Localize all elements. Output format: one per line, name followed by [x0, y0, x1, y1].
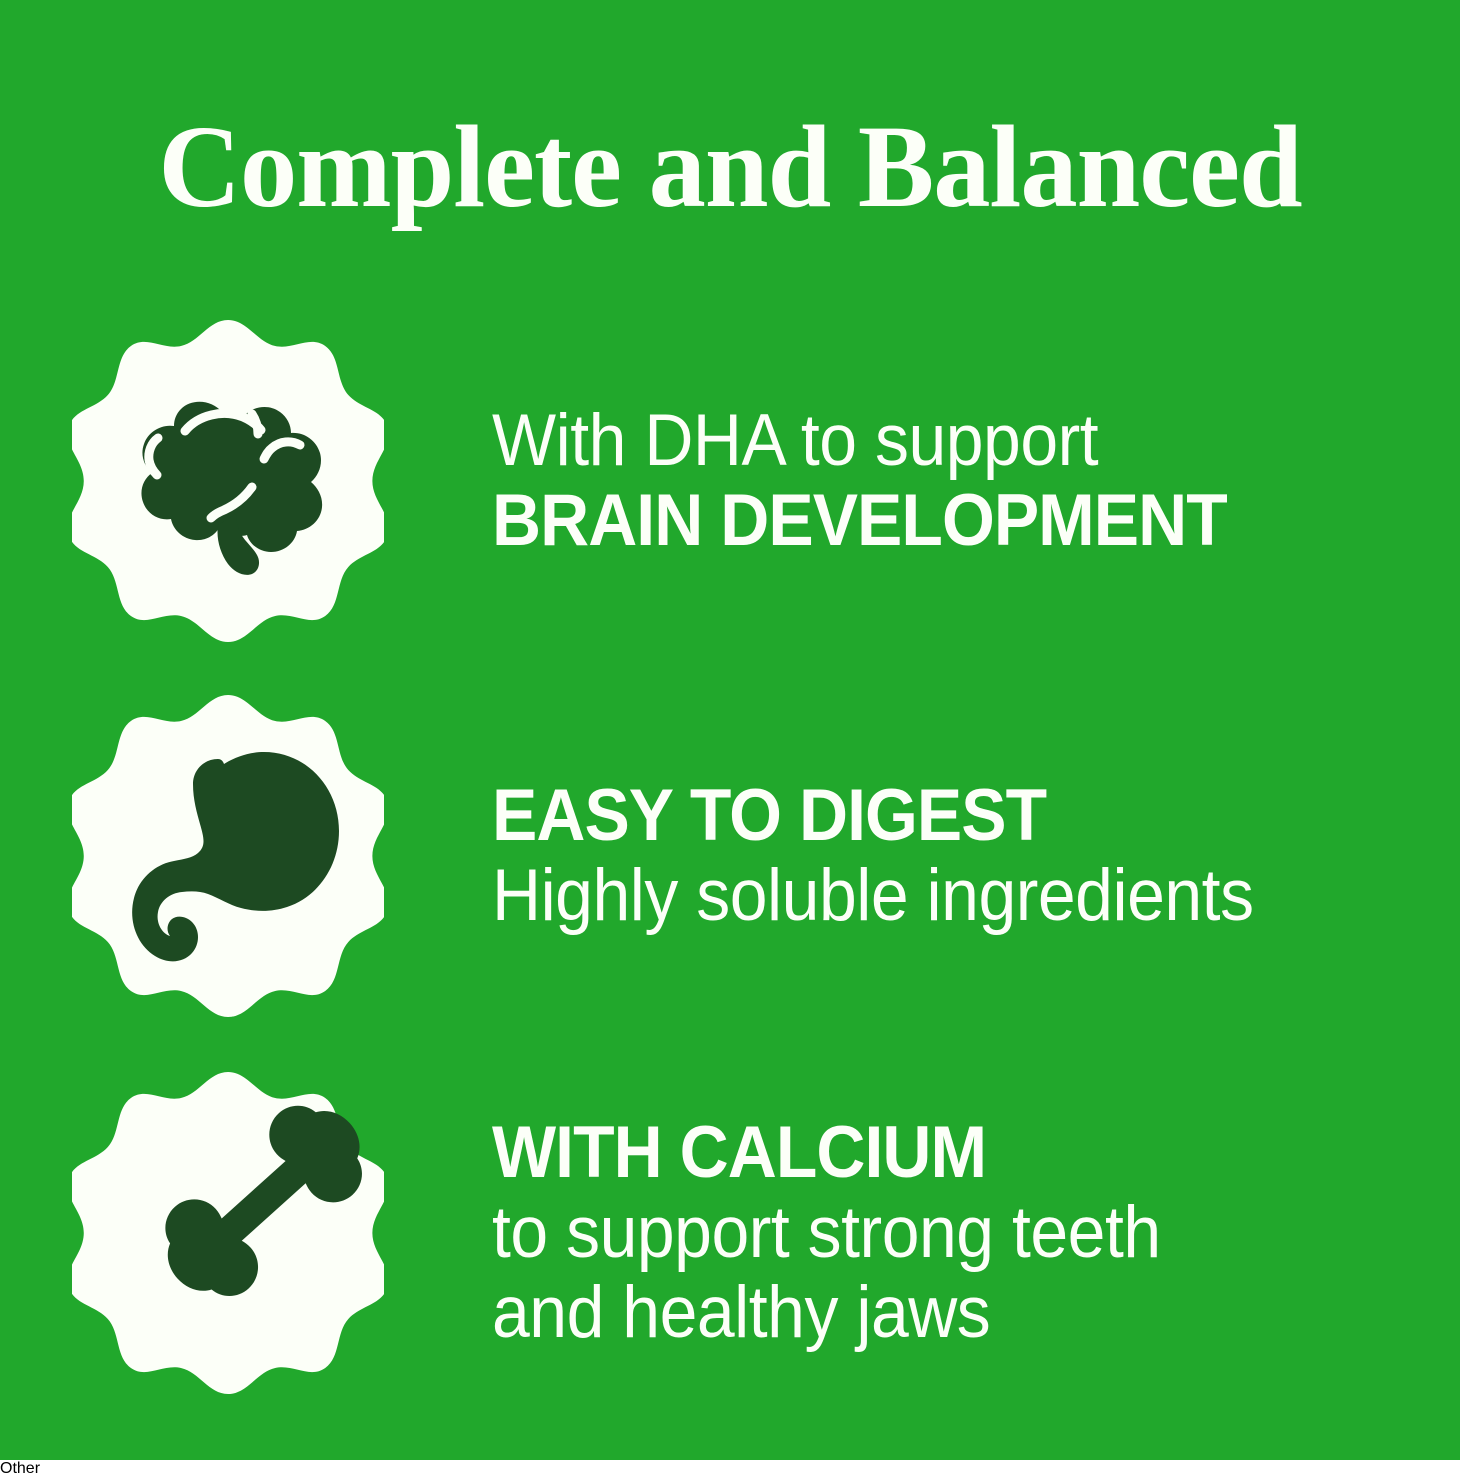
feature-row-brain: With DHA to support BRAIN DEVELOPMENT	[0, 316, 1460, 646]
scalloped-badge-bone	[72, 1068, 384, 1398]
feature-line: Highly soluble ingredients	[492, 856, 1392, 936]
feature-line: WITH CALCIUM	[492, 1113, 1392, 1193]
feature-text-stomach: EASY TO DIGEST Highly soluble ingredient…	[492, 776, 1392, 937]
scalloped-badge-brain	[72, 316, 384, 646]
page-title: Complete and Balanced	[22, 108, 1438, 226]
feature-text-brain: With DHA to support BRAIN DEVELOPMENT	[492, 401, 1392, 562]
feature-row-bone: WITH CALCIUM to support strong teeth and…	[0, 1068, 1460, 1398]
promo-poster: Complete and Balanced	[0, 0, 1460, 1460]
feature-line: BRAIN DEVELOPMENT	[492, 481, 1392, 561]
scalloped-badge-stomach	[72, 691, 384, 1021]
feature-row-stomach: EASY TO DIGEST Highly soluble ingredient…	[0, 691, 1460, 1021]
feature-line: EASY TO DIGEST	[492, 776, 1392, 856]
feature-line: to support strong teeth	[492, 1193, 1392, 1273]
feature-line: With DHA to support	[492, 401, 1392, 481]
feature-line: and healthy jaws	[492, 1273, 1392, 1353]
feature-text-bone: WITH CALCIUM to support strong teeth and…	[492, 1113, 1392, 1354]
